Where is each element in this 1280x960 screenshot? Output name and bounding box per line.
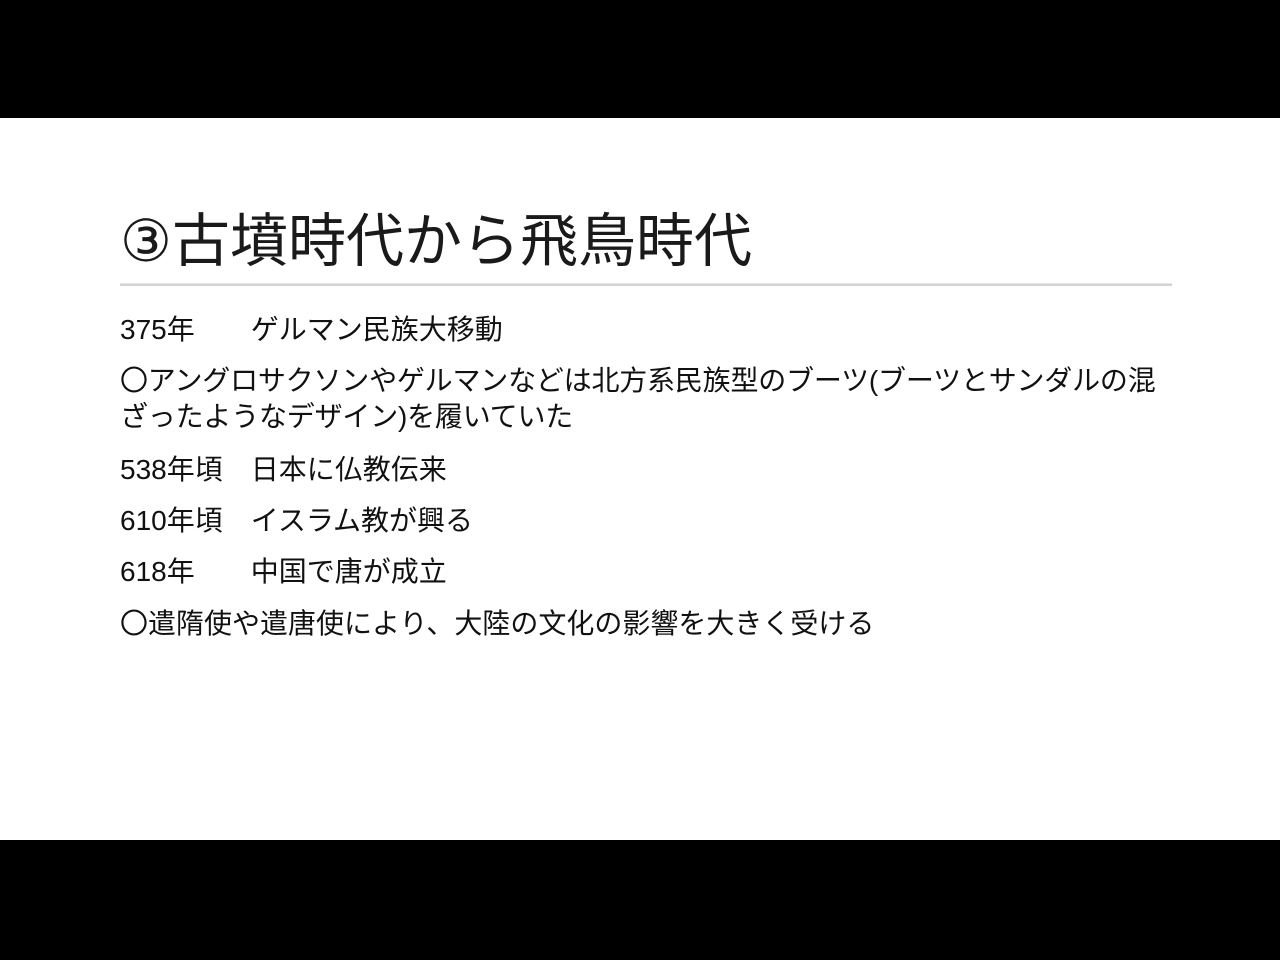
title-block: ③古墳時代から飛鳥時代 — [120, 210, 1172, 286]
body-line: 538年頃 日本に仏教伝来 — [120, 452, 1175, 487]
body-line: 〇アングロサクソンやゲルマンなどは北方系民族型のブーツ(ブーツとサンダルの混ざっ… — [120, 363, 1175, 434]
title-divider-rule — [120, 283, 1172, 286]
slide-title: ③古墳時代から飛鳥時代 — [120, 210, 1172, 275]
slide-canvas: ③古墳時代から飛鳥時代 375年 ゲルマン民族大移動 〇アングロサクソンやゲルマ… — [0, 118, 1280, 840]
presentation-slide: ③古墳時代から飛鳥時代 375年 ゲルマン民族大移動 〇アングロサクソンやゲルマ… — [0, 0, 1280, 960]
body-line: 610年頃 イスラム教が興る — [120, 503, 1175, 538]
body-line: 〇遣隋使や遣唐使により、大陸の文化の影響を大きく受ける — [120, 606, 1175, 641]
body-line: 618年 中国で唐が成立 — [120, 554, 1175, 589]
letterbox-top-band — [0, 0, 1280, 118]
letterbox-bottom-band — [0, 840, 1280, 960]
slide-body: 375年 ゲルマン民族大移動 〇アングロサクソンやゲルマンなどは北方系民族型のブ… — [120, 312, 1175, 641]
body-line: 375年 ゲルマン民族大移動 — [120, 312, 1175, 347]
